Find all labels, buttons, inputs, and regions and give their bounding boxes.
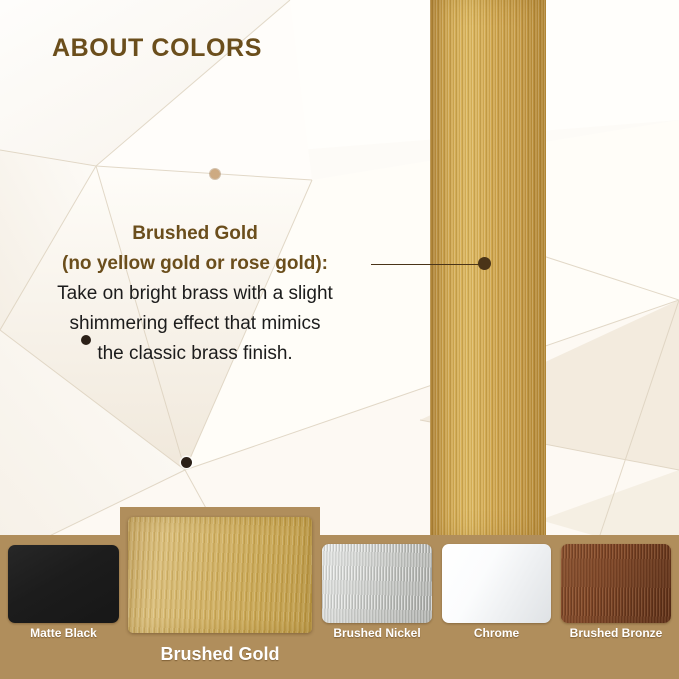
product-color-infographic: ABOUT COLORS Brushed Gold (no yellow gol… [0,0,679,679]
swatch-matte-black[interactable] [8,545,119,623]
swatch-label-matte-black: Matte Black [8,626,119,640]
swatch-brushed-gold[interactable] [128,517,312,633]
callout-body-line-2: shimmering effect that mimics [30,309,360,339]
dark-dot-upper-icon [81,335,91,345]
callout-text: Brushed Gold (no yellow gold or rose gol… [30,219,360,369]
swatch-brushed-nickel[interactable] [322,544,432,623]
swatch-label-chrome: Chrome [442,626,551,640]
callout-body-line-1: Take on bright brass with a slight [30,279,360,309]
callout-heading-line-2: (no yellow gold or rose gold): [30,249,360,279]
dark-dot-lower-icon [181,457,192,468]
callout-leader-line [371,264,479,266]
swatch-label-brushed-bronze: Brushed Bronze [553,626,679,640]
swatch-label-brushed-gold: Brushed Gold [120,644,320,665]
callout-leader-dot-icon [478,257,491,270]
swatch-chrome[interactable] [442,544,551,623]
swatch-brushed-bronze[interactable] [561,544,671,623]
callout-heading-line-1: Brushed Gold [30,219,360,249]
tan-dot-icon [210,169,220,179]
callout-body-line-3: the classic brass finish. [30,339,360,369]
swatch-label-brushed-nickel: Brushed Nickel [316,626,438,640]
page-title: ABOUT COLORS [52,34,262,63]
